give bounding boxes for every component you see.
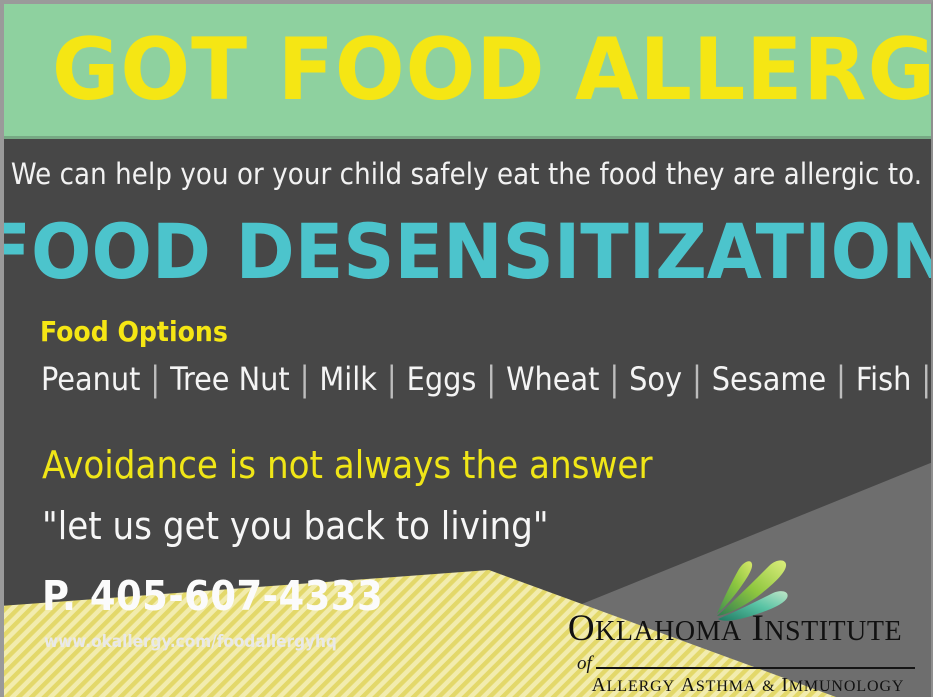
logo-asthma-initial: A	[681, 675, 696, 696]
logo-rule-row: of	[555, 654, 915, 674]
logo-immunology-initial: I	[781, 675, 788, 696]
phone-number: P. 405-607-4333	[42, 572, 383, 620]
logo-of-text: of	[555, 654, 596, 674]
list-separator: |	[827, 359, 855, 399]
logo-allergy-rest: LLERGY	[607, 678, 676, 695]
list-separator: |	[683, 359, 711, 399]
list-separator: |	[600, 359, 628, 399]
logo-institute-initial: I	[752, 608, 765, 649]
subtitle-text: We can help you or your child safely eat…	[0, 157, 933, 191]
logo-oklahoma-rest: KLAHOMA	[595, 616, 742, 647]
list-item: Wheat	[505, 360, 600, 398]
list-item: Fish	[855, 360, 912, 398]
list-separator: |	[141, 359, 169, 399]
service-title: FOOD DESENSITIZATION	[0, 209, 933, 295]
list-separator: |	[477, 359, 505, 399]
website-url[interactable]: www.okallergy.com/foodallergyhq	[44, 631, 337, 653]
list-item: Sesame	[711, 360, 827, 398]
logo-asthma-rest: STHMA	[696, 678, 757, 695]
list-separator: |	[912, 359, 933, 399]
list-item: Eggs	[406, 360, 478, 398]
food-options-label: Food Options	[40, 316, 228, 348]
list-item: Tree Nut	[169, 360, 291, 398]
allergen-list: Peanut | Tree Nut | Milk | Eggs | Wheat …	[40, 360, 933, 398]
list-item: Soy	[628, 360, 683, 398]
logo-line-institute: OKLAHOMA INSTITUTE	[555, 608, 915, 653]
logo-line-specialties: ALLERGY ASTHMA & IMMUNOLOGY	[555, 674, 915, 697]
tagline-primary: Avoidance is not always the answer	[42, 442, 653, 488]
logo-institute-rest: NSTITUTE	[764, 616, 902, 647]
logo-immunology-rest: MMUNOLOGY	[789, 678, 905, 695]
list-item: Milk	[318, 360, 378, 398]
logo-ampersand: &	[762, 678, 775, 695]
logo-wordmark: OKLAHOMA INSTITUTE of ALLERGY ASTHMA & I…	[555, 608, 915, 697]
list-separator: |	[378, 359, 406, 399]
food-allergy-poster: GOT FOOD ALLERGIES? We can help you or y…	[0, 0, 933, 697]
logo-oklahoma-initial: O	[568, 608, 595, 649]
tagline-quote: "let us get you back to living"	[42, 503, 549, 549]
list-separator: |	[291, 359, 319, 399]
list-item: Peanut	[40, 360, 141, 398]
logo-allergy-initial: A	[592, 675, 607, 696]
organization-logo: OKLAHOMA INSTITUTE of ALLERGY ASTHMA & I…	[555, 548, 915, 688]
logo-divider-rule	[596, 667, 915, 669]
